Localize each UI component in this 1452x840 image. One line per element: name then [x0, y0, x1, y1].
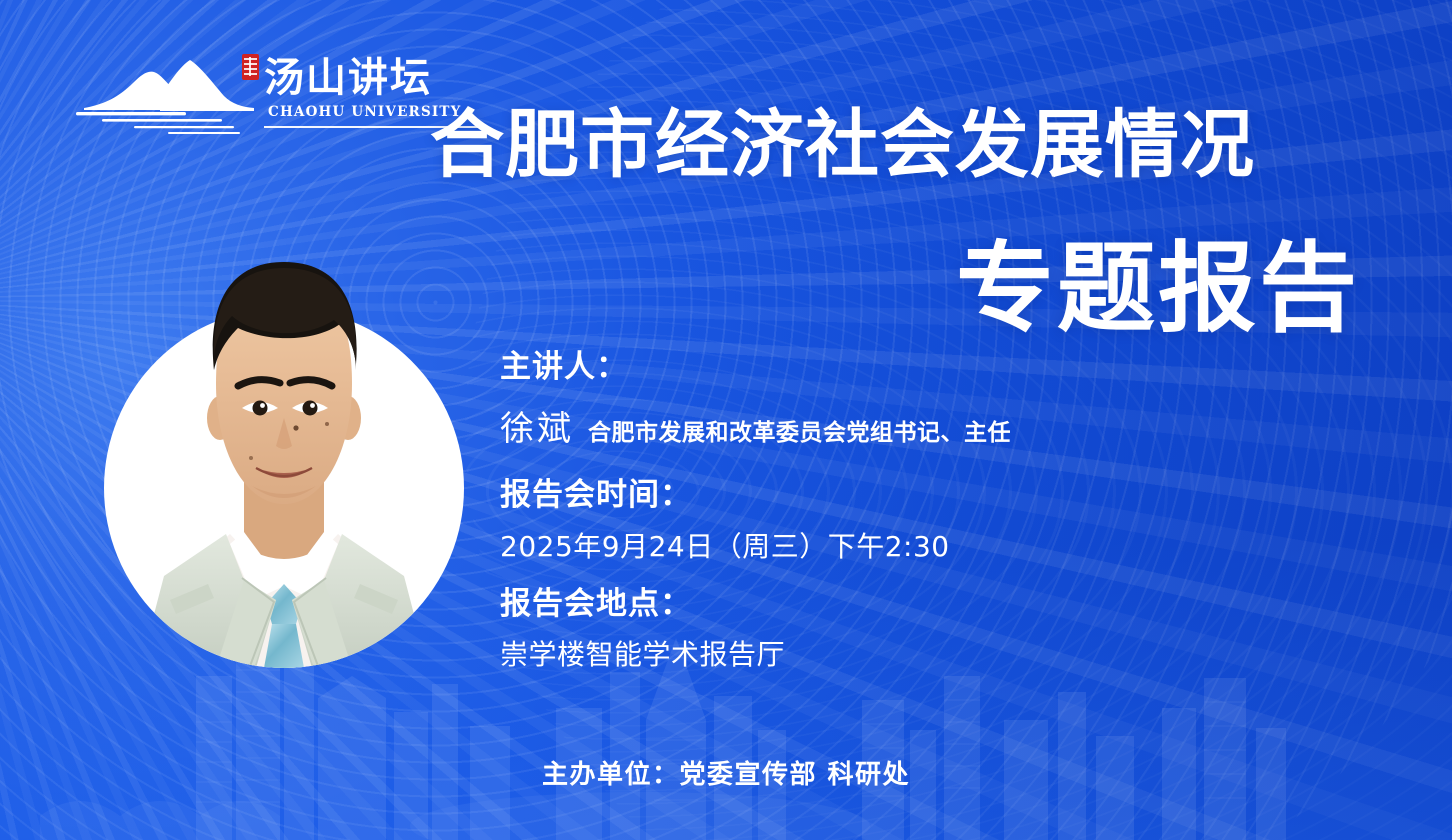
- poster-title-line-2: 专题报告: [430, 240, 1360, 338]
- speaker-portrait: [104, 228, 464, 668]
- speaker-portrait-illustration: [104, 228, 464, 668]
- time-value: 2025年9月24日（周三）下午2:30: [500, 525, 1380, 565]
- event-poster: 汤山讲坛 CHAOHU UNIVERSITY 合肥市经济社会发展情况 专题报告: [0, 0, 1452, 840]
- logo-chinese-name: 汤山讲坛: [264, 58, 432, 98]
- speaker-row: 徐斌 合肥市发展和改革委员会党组书记、主任: [500, 401, 1380, 450]
- footer: 主办单位：党委宣传部 科研处: [0, 754, 1452, 791]
- time-label: 报告会时间：: [500, 476, 1380, 515]
- place-label: 报告会地点：: [500, 585, 1380, 624]
- event-details: 主讲人： 徐斌 合肥市发展和改革委员会党组书记、主任 报告会时间： 2025年9…: [500, 348, 1380, 673]
- place-value: 崇学楼智能学术报告厅: [500, 633, 1380, 673]
- mountain-water-logo-icon: [72, 52, 262, 144]
- logo: 汤山讲坛 CHAOHU UNIVERSITY: [72, 52, 412, 144]
- red-seal-icon: [242, 54, 259, 80]
- poster-title-line-1: 合肥市经济社会发展情况: [430, 108, 1360, 182]
- organizer-text: 主办单位：党委宣传部 科研处: [542, 754, 910, 791]
- speaker-job-title: 合肥市发展和改革委员会党组书记、主任: [588, 413, 1011, 447]
- speaker-label: 主讲人：: [500, 348, 1380, 387]
- speaker-name: 徐斌: [500, 401, 574, 450]
